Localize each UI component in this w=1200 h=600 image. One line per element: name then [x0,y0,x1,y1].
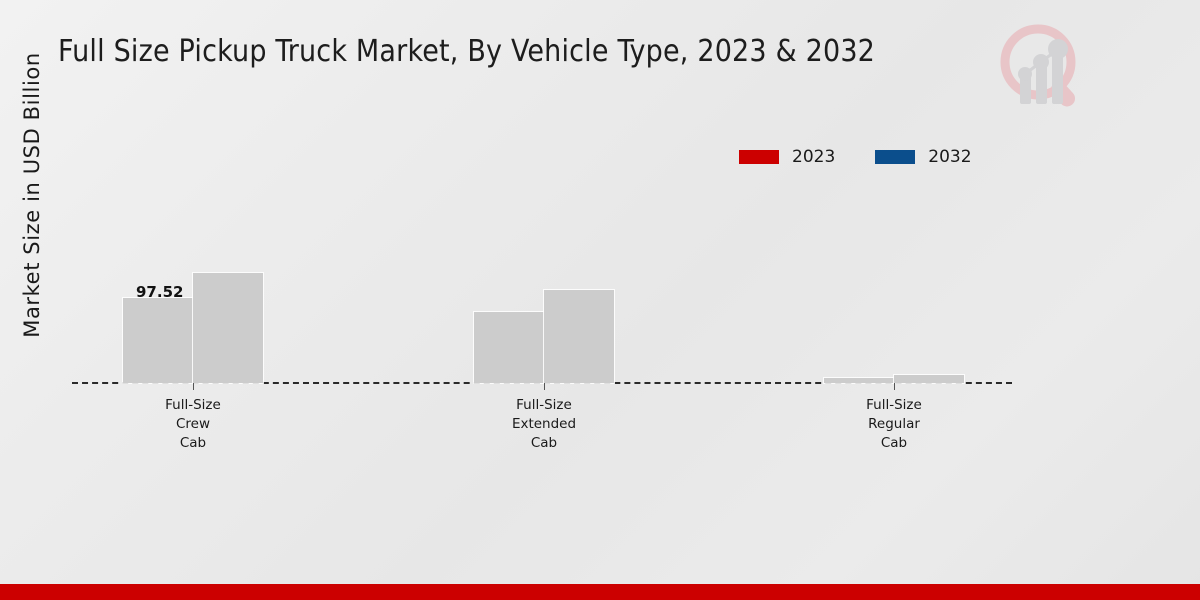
x-axis-label-regular-cab-line3: Cab [794,434,994,453]
x-axis-tick-crew-cab [193,383,194,390]
x-axis-label-extended-cab-line2: Extended [444,415,644,434]
bar-2023-regular-cab[interactable] [824,378,894,383]
footer-strip [0,584,1200,600]
x-axis-label-crew-cab-line1: Full-Size [93,396,293,415]
x-axis-label-regular-cab: Full-Size Regular Cab [794,396,994,453]
data-label-crew-2023: 97.52 [136,283,183,301]
x-axis-label-extended-cab: Full-Size Extended Cab [444,396,644,453]
bar-2023-extended-cab[interactable] [474,312,544,383]
bar-2023-crew-cab[interactable] [123,298,193,383]
x-axis-label-crew-cab-line2: Crew [93,415,293,434]
bar-2032-crew-cab[interactable] [193,273,263,383]
x-axis-label-extended-cab-line1: Full-Size [444,396,644,415]
plot-area: 97.52 Full-Size Crew Cab Full-Size Exten… [0,0,1200,600]
x-axis-tick-regular-cab [894,383,895,390]
bar-2032-regular-cab[interactable] [894,375,964,383]
bar-2032-extended-cab[interactable] [544,290,614,383]
x-axis-label-extended-cab-line3: Cab [444,434,644,453]
x-axis-label-crew-cab: Full-Size Crew Cab [93,396,293,453]
x-axis-label-regular-cab-line2: Regular [794,415,994,434]
x-axis-label-crew-cab-line3: Cab [93,434,293,453]
x-axis-label-regular-cab-line1: Full-Size [794,396,994,415]
x-axis-tick-extended-cab [544,383,545,390]
chart-figure: Full Size Pickup Truck Market, By Vehicl… [0,0,1200,600]
